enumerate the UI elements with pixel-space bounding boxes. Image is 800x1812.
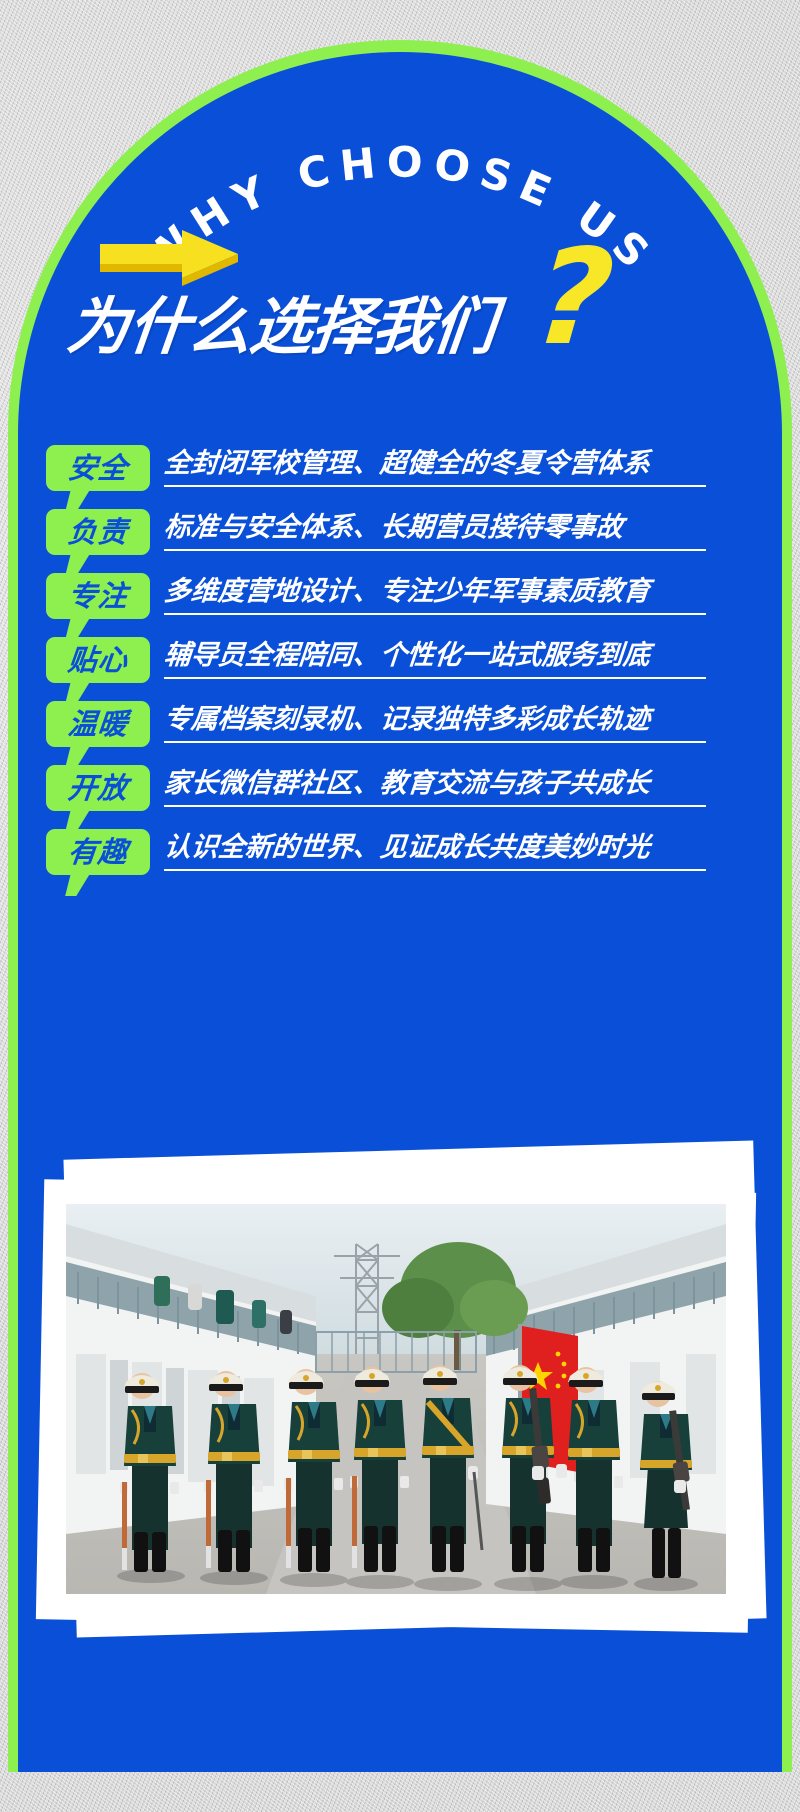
feature-text: 多维度营地设计、专注少年军事素质教育 [163,577,708,606]
feature-tag-label: 温暖 [66,710,129,739]
feature-tag: 负责 [46,509,150,555]
list-item[interactable]: 开放 家长微信群社区、教育交流与孩子共成长 [46,756,706,820]
photo-block [0,1168,800,1728]
feature-tag: 开放 [46,765,150,811]
feature-text: 家长微信群社区、教育交流与孩子共成长 [163,769,708,798]
feature-list: 安全 全封闭军校管理、超健全的冬夏令营体系 负责 标准与安全体系、长期营员接待零… [46,436,706,884]
feature-tag: 专注 [46,573,150,619]
honor-guard-photo [66,1204,726,1594]
feature-tag-label: 安全 [66,454,129,483]
feature-tag-label: 有趣 [66,838,129,867]
question-mark-glyph: ? [530,232,618,364]
feature-tag: 有趣 [46,829,150,875]
feature-tag-label: 负责 [66,518,129,547]
list-item[interactable]: 有趣 认识全新的世界、见证成长共度美妙时光 [46,820,706,884]
feature-text: 辅导员全程陪同、个性化一站式服务到底 [163,641,708,670]
feature-tag-label: 专注 [66,582,129,611]
feature-text-container: 多维度营地设计、专注少年军事素质教育 [164,577,706,615]
feature-text: 专属档案刻录机、记录独特多彩成长轨迹 [163,705,708,734]
feature-tag: 安全 [46,445,150,491]
headline-cn: 为什么选择我们 [63,276,499,366]
feature-tag-label: 开放 [66,774,129,803]
list-item[interactable]: 贴心 辅导员全程陪同、个性化一站式服务到底 [46,628,706,692]
feature-tag-label: 贴心 [66,646,129,675]
list-item[interactable]: 温暖 专属档案刻录机、记录独特多彩成长轨迹 [46,692,706,756]
list-item[interactable]: 负责 标准与安全体系、长期营员接待零事故 [46,500,706,564]
feature-text-container: 辅导员全程陪同、个性化一站式服务到底 [164,641,706,679]
feature-tag: 温暖 [46,701,150,747]
feature-text-container: 标准与安全体系、长期营员接待零事故 [164,513,706,551]
feature-text-container: 全封闭军校管理、超健全的冬夏令营体系 [164,449,706,487]
feature-text: 认识全新的世界、见证成长共度美妙时光 [163,833,708,862]
poster-panel: WHY CHOOSE US 为什么选择我们 ? 安全 全封闭军校管理、超健全的冬… [0,0,800,1812]
list-item[interactable]: 专注 多维度营地设计、专注少年军事素质教育 [46,564,706,628]
feature-tag: 贴心 [46,637,150,683]
list-item[interactable]: 安全 全封闭军校管理、超健全的冬夏令营体系 [46,436,706,500]
feature-text: 全封闭军校管理、超健全的冬夏令营体系 [163,449,708,478]
feature-text-container: 认识全新的世界、见证成长共度美妙时光 [164,833,706,871]
feature-text-container: 专属档案刻录机、记录独特多彩成长轨迹 [164,705,706,743]
feature-text-container: 家长微信群社区、教育交流与孩子共成长 [164,769,706,807]
feature-text: 标准与安全体系、长期营员接待零事故 [163,513,708,542]
